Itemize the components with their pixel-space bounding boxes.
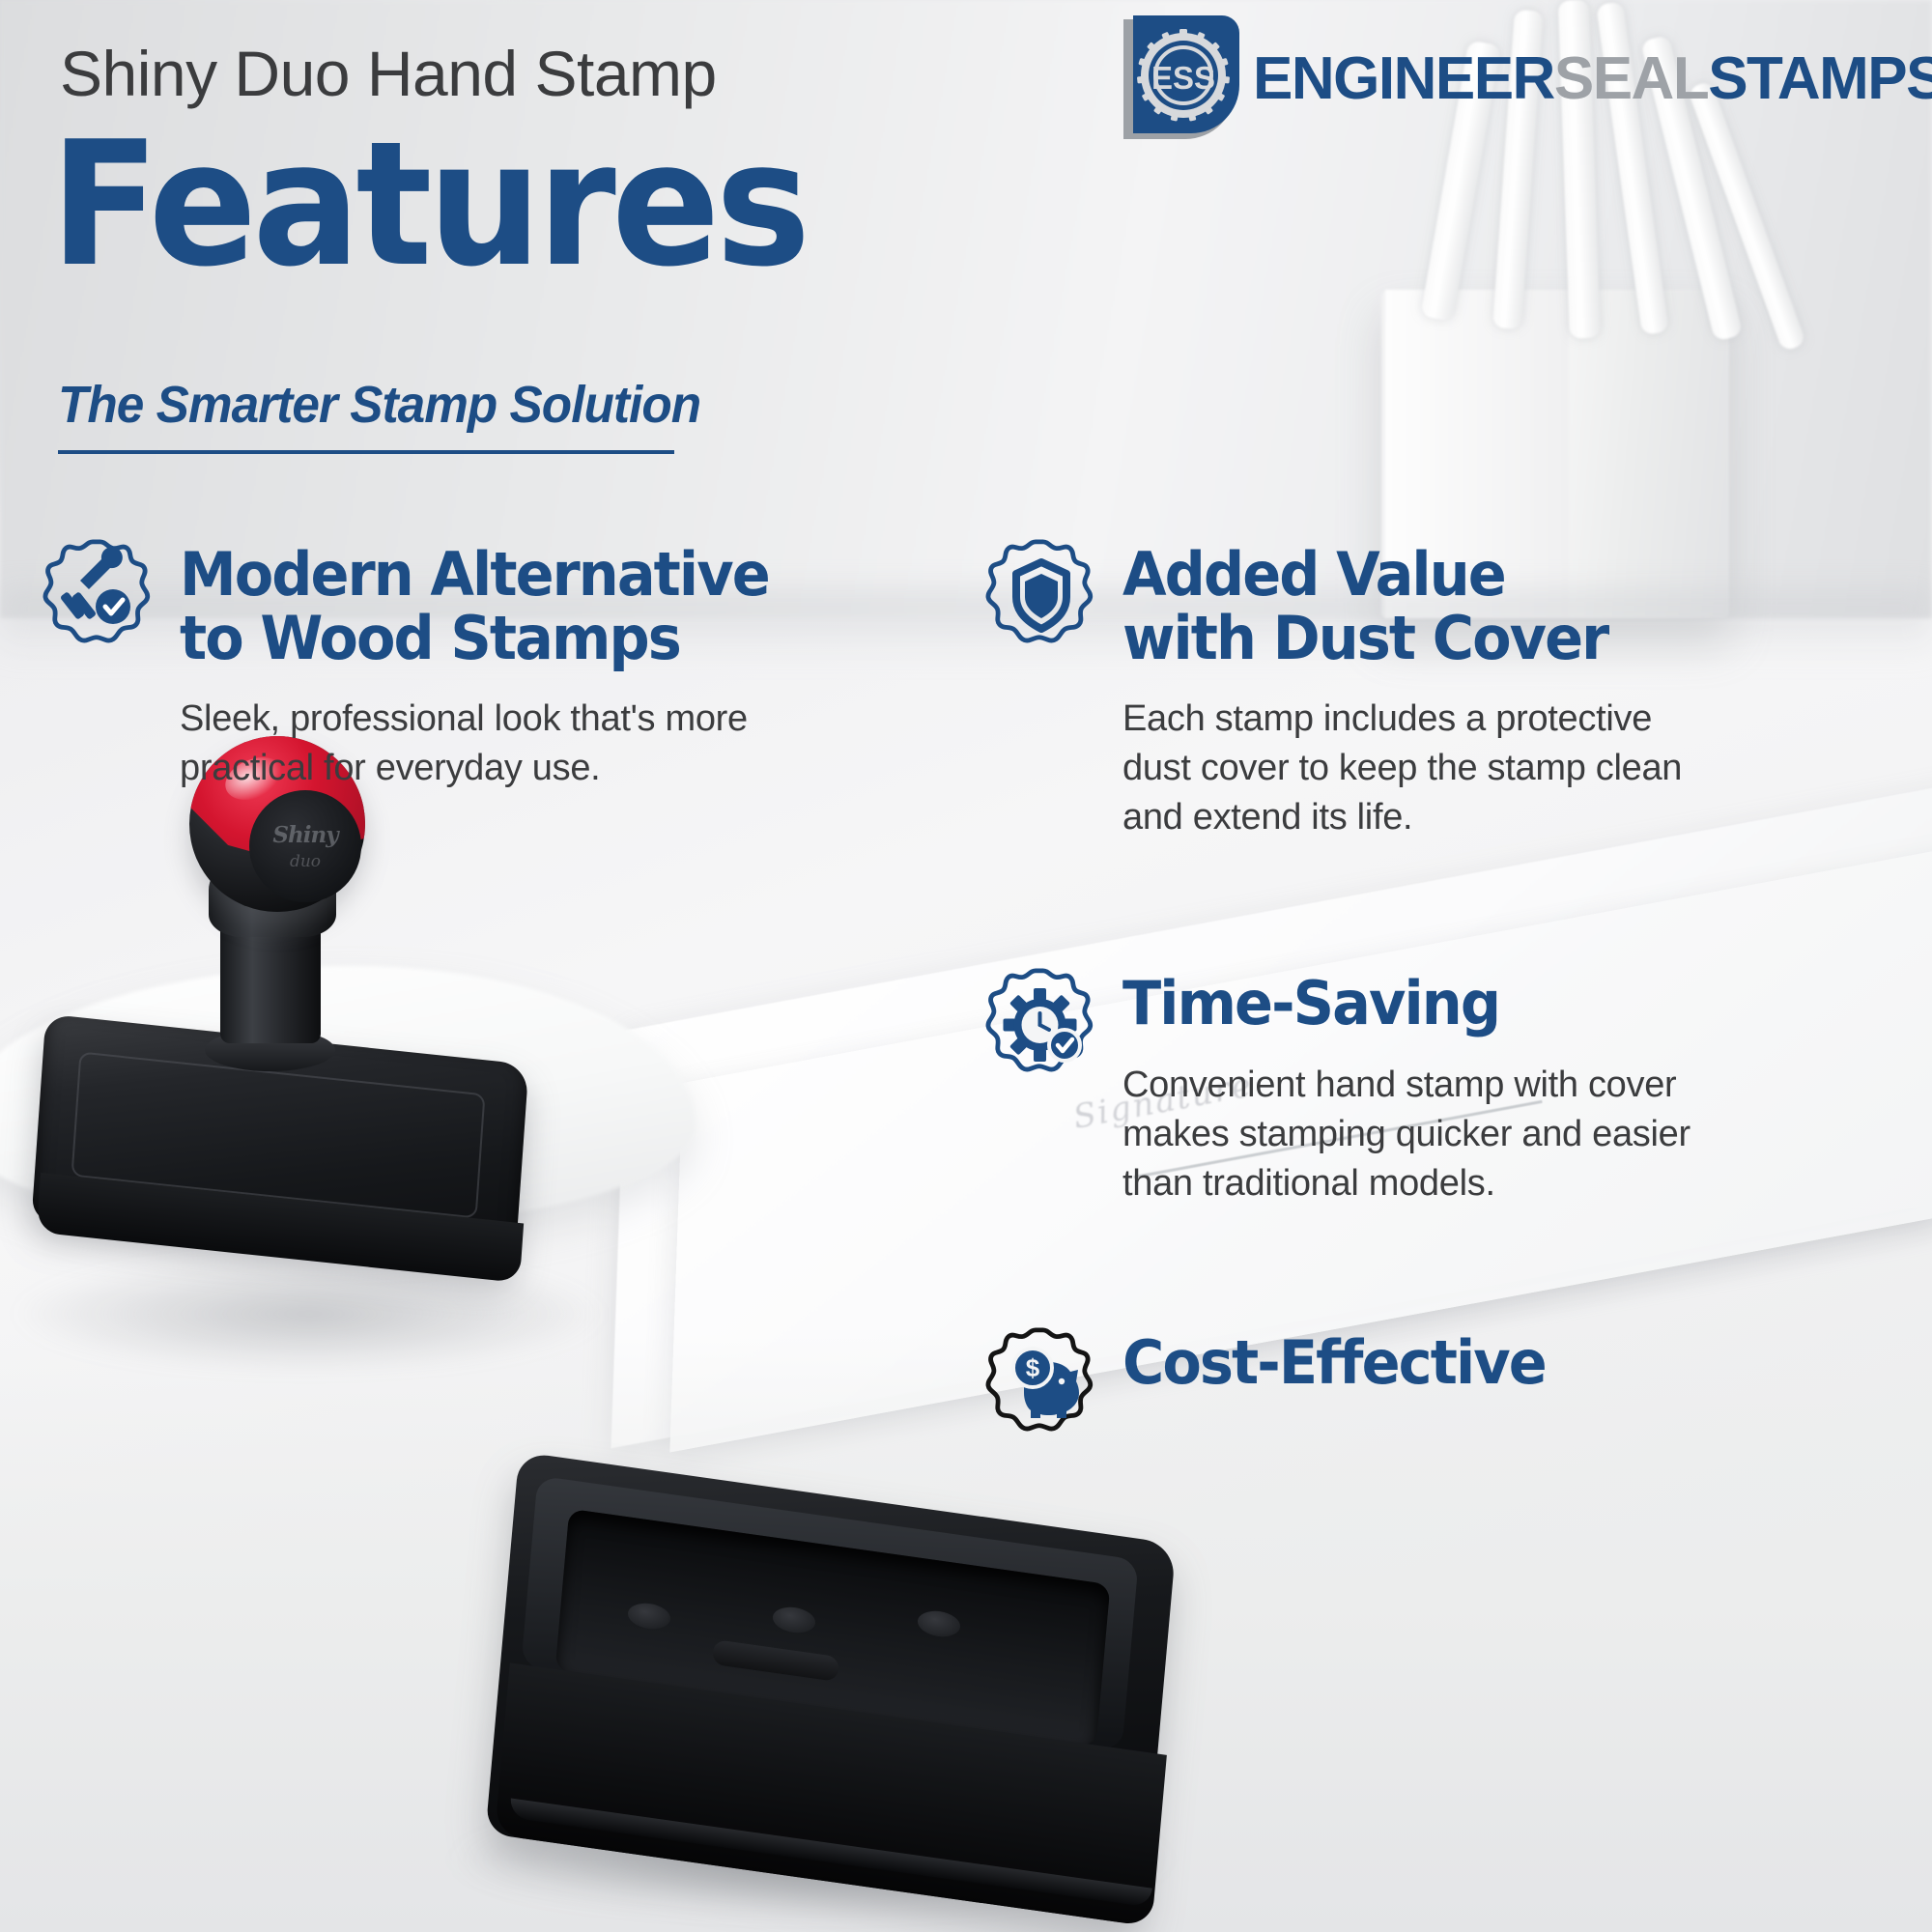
wordmark-seal: SEAL bbox=[1554, 49, 1708, 109]
product-name-kicker: Shiny Duo Hand Stamp bbox=[60, 37, 717, 110]
feature-text-block: Time-Saving Convenient hand stamp with c… bbox=[1122, 966, 1690, 1207]
feature-title: Time-Saving bbox=[1122, 972, 1662, 1036]
svg-text:$: $ bbox=[1026, 1353, 1040, 1382]
tools-check-badge-icon bbox=[43, 537, 155, 655]
feature-title: Cost-Effective bbox=[1122, 1331, 1546, 1395]
page-title: Features bbox=[50, 126, 807, 284]
feature-text-block: Modern Alternative to Wood Stamps Sleek,… bbox=[180, 537, 800, 793]
piggy-bank-badge-icon: $ bbox=[985, 1325, 1097, 1443]
wordmark-stamps: STAMPS bbox=[1708, 49, 1932, 109]
feature-item-cost-effective: $ Cost-Effective bbox=[985, 1325, 1893, 1443]
brand-wordmark: ENGINEER SEAL STAMPS .COM bbox=[1253, 49, 1932, 110]
tagline: The Smarter Stamp Solution bbox=[58, 375, 700, 435]
feature-description: Sleek, professional look that's more pra… bbox=[180, 695, 800, 793]
tagline-block: The Smarter Stamp Solution bbox=[58, 375, 734, 454]
feature-title: Added Value with Dust Cover bbox=[1122, 543, 1654, 669]
ess-shield-icon: ESS bbox=[1116, 14, 1239, 147]
shield-badge-icon bbox=[985, 537, 1097, 655]
feature-item-time-saving: Time-Saving Convenient hand stamp with c… bbox=[985, 966, 1893, 1207]
feature-title: Modern Alternative to Wood Stamps bbox=[180, 543, 769, 669]
feature-description: Convenient hand stamp with cover makes s… bbox=[1122, 1061, 1690, 1208]
tagline-underline bbox=[58, 450, 674, 454]
feature-item-modern-alternative: Modern Alternative to Wood Stamps Sleek,… bbox=[43, 537, 912, 793]
brand-logo[interactable]: ESS ENGINEER SEAL STAMPS .COM bbox=[1116, 14, 1932, 147]
feature-description: Each stamp includes a protective dust co… bbox=[1122, 695, 1682, 842]
infographic-content: Shiny Duo Hand Stamp bbox=[0, 0, 1932, 1932]
wordmark-engineer: ENGINEER bbox=[1253, 49, 1554, 109]
feature-item-added-value: Added Value with Dust Cover Each stamp i… bbox=[985, 537, 1893, 842]
gear-clock-check-badge-icon bbox=[985, 966, 1097, 1084]
feature-text-block: Cost-Effective bbox=[1122, 1325, 1568, 1443]
feature-text-block: Added Value with Dust Cover Each stamp i… bbox=[1122, 537, 1682, 842]
svg-text:ESS: ESS bbox=[1151, 60, 1215, 96]
